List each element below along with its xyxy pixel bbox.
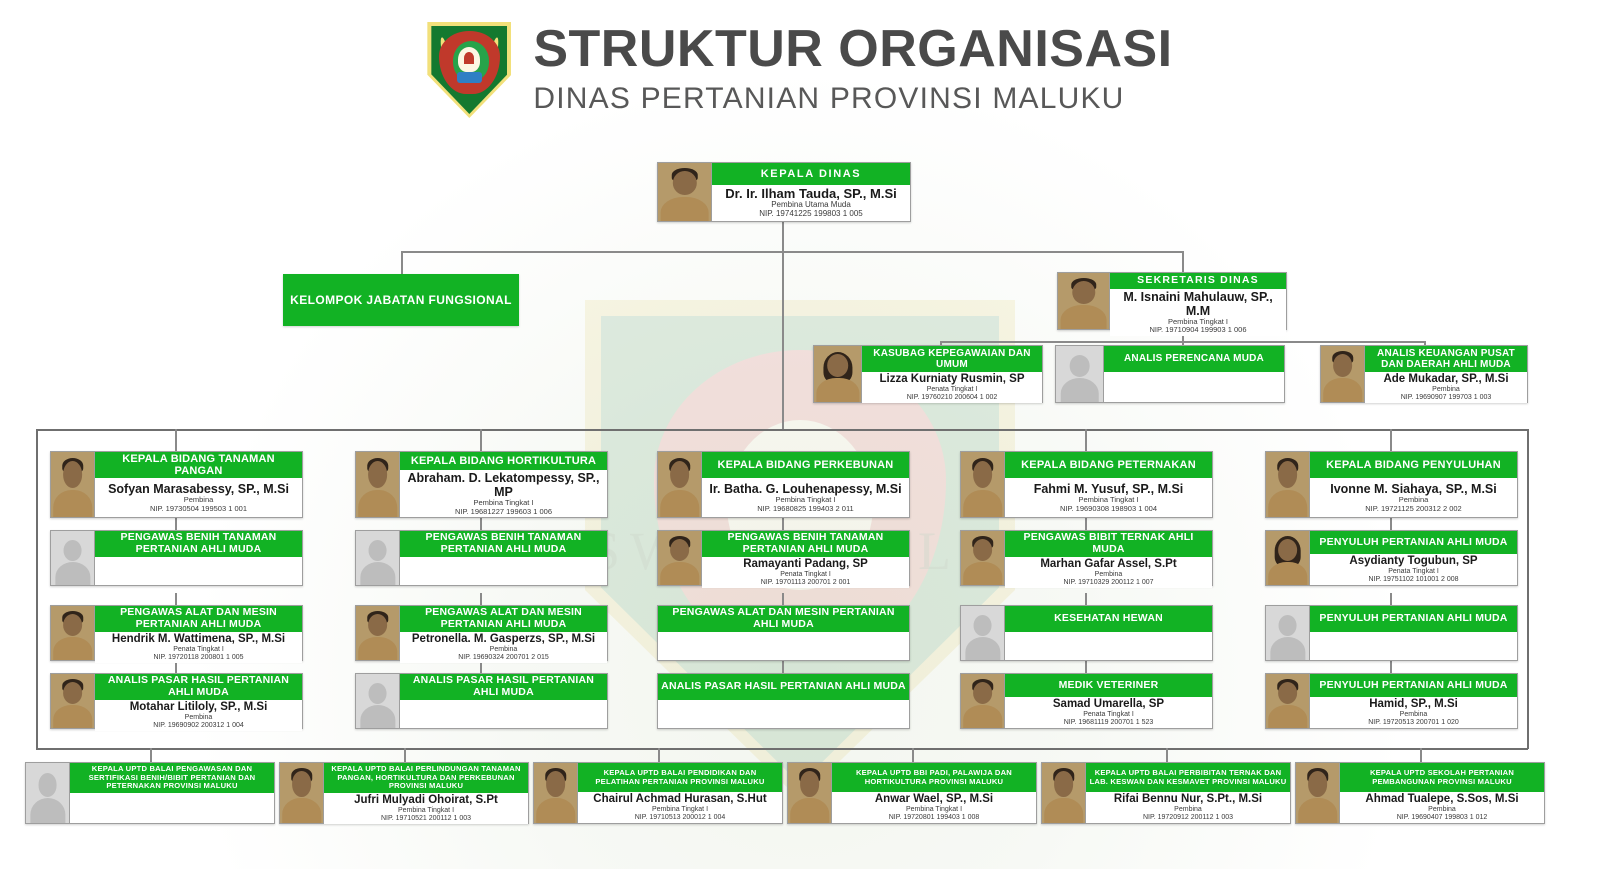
photo-analis-keuangan — [1321, 346, 1365, 402]
node-analis-perencana-muda[interactable]: ANALIS PERENCANA MUDA — [1055, 345, 1285, 403]
header-titles: STRUKTUR ORGANISASI DINAS PERTANIAN PROV… — [533, 23, 1172, 116]
connector — [782, 518, 784, 530]
node-uptd-5[interactable]: KEPALA UPTD BALAI PERBIBITAN TERNAK DAN … — [1041, 762, 1291, 824]
node-title: KEPALA BIDANG TANAMAN PANGAN — [95, 452, 302, 478]
photo-female — [658, 452, 702, 517]
node-nip: NIP. 19720513 200701 1 020 — [1368, 719, 1459, 727]
node-title: PENGAWAS BENIH TANAMAN PERTANIAN AHLI MU… — [400, 531, 607, 557]
node-rank: Penata Tingkat I — [927, 386, 978, 394]
node-nip: NIP. 19681119 200701 1 523 — [1064, 719, 1154, 727]
photo-male — [961, 674, 1005, 728]
node-title: PENGAWAS ALAT DAN MESIN PERTANIAN AHLI M… — [400, 606, 607, 632]
node-rank: Pembina — [1400, 711, 1428, 719]
connector — [658, 748, 660, 762]
connector — [1085, 661, 1087, 673]
node-name: Hamid, SP., M.Si — [1369, 698, 1458, 711]
node-name: Ahmad Tualepe, S.Sos, M.Si — [1365, 793, 1518, 806]
connector — [480, 593, 482, 605]
node-name: Ir. Batha. G. Louhenapessy, M.Si — [709, 482, 901, 496]
connector — [782, 661, 784, 673]
node-title: ANALIS PASAR HASIL PERTANIAN AHLI MUDA — [400, 674, 607, 700]
node-rank: Pembina — [1174, 806, 1202, 814]
connector — [1085, 429, 1087, 451]
node-rank: Pembina — [1095, 571, 1123, 579]
connector — [401, 251, 1183, 253]
node-perkebunan-row-1[interactable]: PENGAWAS BENIH TANAMAN PERTANIAN AHLI MU… — [657, 530, 910, 586]
node-nip: NIP. 19681227 199603 1 006 — [455, 508, 552, 516]
node-nip: NIP. 19701113 200701 2 001 — [761, 579, 851, 587]
connector — [404, 748, 406, 762]
connector — [1390, 661, 1392, 673]
node-title: KASUBAG KEPEGAWAIAN DAN UMUM — [862, 346, 1042, 372]
photo-placeholder — [356, 531, 400, 585]
node-rank: Penata Tingkat I — [173, 646, 224, 654]
node-title: KEPALA UPTD BALAI PENDIDIKAN DAN PELATIH… — [578, 763, 782, 792]
crest-icon — [427, 22, 511, 118]
node-rank: Pembina — [185, 714, 213, 722]
connector — [1390, 429, 1392, 451]
node-tanaman-pangan-row-3[interactable]: ANALIS PASAR HASIL PERTANIAN AHLI MUDAMo… — [50, 673, 303, 729]
node-bidang-head-hortikultura[interactable]: KEPALA BIDANG HORTIKULTURAAbraham. D. Le… — [355, 451, 608, 518]
node-title: PENGAWAS BENIH TANAMAN PERTANIAN AHLI MU… — [95, 531, 302, 557]
node-title: KEPALA UPTD BALAI PERBIBITAN TERNAK DAN … — [1086, 763, 1290, 792]
node-rank: Pembina — [1432, 386, 1460, 394]
photo-male — [51, 452, 95, 517]
node-title: PENGAWAS ALAT DAN MESIN PERTANIAN AHLI M… — [95, 606, 302, 632]
node-uptd-1[interactable]: KEPALA UPTD BALAI PENGAWASAN DAN SERTIFI… — [25, 762, 275, 824]
node-title: PENYULUH PERTANIAN AHLI MUDA — [1310, 531, 1517, 554]
photo-male — [788, 763, 832, 823]
node-nip: NIP. 19720118 200801 1 005 — [153, 654, 243, 662]
connector — [1527, 429, 1529, 749]
connector — [175, 593, 177, 605]
node-name: Chairul Achmad Hurasan, S.Hut — [593, 793, 766, 806]
node-perkebunan-row-3[interactable]: ANALIS PASAR HASIL PERTANIAN AHLI MUDA — [657, 673, 910, 729]
connector — [1420, 748, 1422, 762]
node-kasubag-kepegawaian[interactable]: KASUBAG KEPEGAWAIAN DAN UMUM Lizza Kurni… — [813, 345, 1043, 403]
node-nip: NIP. 19690902 200312 1 004 — [153, 722, 244, 730]
node-name: Rifai Bennu Nur, S.Pt., M.Si — [1114, 793, 1262, 806]
page-header: STRUKTUR ORGANISASI DINAS PERTANIAN PROV… — [0, 22, 1600, 118]
node-name: Asydianty Togubun, SP — [1349, 555, 1477, 568]
node-nip: NIP. 19751102 101001 2 008 — [1368, 576, 1458, 584]
node-name: Anwar Wael, SP., M.Si — [875, 793, 993, 806]
connector — [175, 518, 177, 530]
photo-placeholder — [356, 674, 400, 728]
node-nip: NIP. 19690324 200701 2 015 — [458, 654, 549, 662]
connector — [150, 748, 152, 762]
connector — [480, 518, 482, 530]
org-chart-page: SWAKELOLA STRUKTUR ORGANISASI DINAS PERT… — [0, 0, 1600, 869]
node-uptd-4[interactable]: KEPALA UPTD BBI PADI, PALAWIJA DAN HORTI… — [787, 762, 1037, 824]
node-title: KEPALA DINAS — [712, 163, 910, 185]
node-bidang-head-perkebunan[interactable]: KEPALA BIDANG PERKEBUNANIr. Batha. G. Lo… — [657, 451, 910, 518]
node-rank: Penata Tingkat I — [1083, 711, 1134, 719]
node-bidang-head-tanaman-pangan[interactable]: KEPALA BIDANG TANAMAN PANGANSofyan Maras… — [50, 451, 303, 518]
node-name: Ivonne M. Siahaya, SP., M.Si — [1330, 482, 1497, 496]
node-rank: Pembina — [1428, 806, 1456, 814]
node-title: KELOMPOK JABATAN FUNGSIONAL — [290, 293, 512, 307]
node-tanaman-pangan-row-1[interactable]: PENGAWAS BENIH TANAMAN PERTANIAN AHLI MU… — [50, 530, 303, 586]
node-nip: NIP. 19690308 198903 1 004 — [1060, 505, 1157, 513]
connector — [912, 748, 914, 762]
node-nip: NIP. 19710329 200112 1 007 — [1063, 579, 1153, 587]
node-title: KEPALA BIDANG PENYULUHAN — [1310, 452, 1517, 478]
node-name: Fahmi M. Yusuf, SP., M.Si — [1034, 482, 1184, 496]
node-name: Abraham. D. Lekatompessy, SP., MP — [402, 471, 605, 499]
page-subtitle: DINAS PERTANIAN PROVINSI MALUKU — [533, 81, 1172, 117]
node-title: KEPALA UPTD SEKOLAH PERTANIAN PEMBANGUNA… — [1340, 763, 1544, 792]
node-penyuluhan-row-1[interactable]: PENYULUH PERTANIAN AHLI MUDAAsydianty To… — [1265, 530, 1518, 586]
node-title: ANALIS PASAR HASIL PERTANIAN AHLI MUDA — [95, 674, 302, 700]
connector — [480, 661, 482, 673]
node-analis-keuangan[interactable]: ANALIS KEUANGAN PUSAT DAN DAERAH AHLI MU… — [1320, 345, 1528, 403]
node-name: Hendrik M. Wattimena, SP., M.Si — [112, 633, 285, 646]
node-peternakan-row-3[interactable]: MEDIK VETERINERSamad Umarella, SPPenata … — [960, 673, 1213, 729]
node-uptd-6[interactable]: KEPALA UPTD SEKOLAH PERTANIAN PEMBANGUNA… — [1295, 762, 1545, 824]
connector — [1085, 593, 1087, 605]
photo-female — [658, 531, 702, 585]
connector — [401, 251, 403, 275]
node-title: KEPALA UPTD BBI PADI, PALAWIJA DAN HORTI… — [832, 763, 1036, 792]
node-title: KEPALA UPTD BALAI PERLINDUNGAN TANAMAN P… — [324, 763, 528, 793]
node-nip: NIP. 19710513 200012 1 004 — [635, 814, 726, 822]
node-nip: NIP. 19721125 200312 2 002 — [1365, 505, 1461, 513]
node-nip: NIP. 19760210 200604 1 002 — [907, 394, 998, 402]
photo-male — [961, 531, 1005, 585]
photo-sekretaris-dinas — [1058, 273, 1110, 329]
photo-female-hijab — [1266, 531, 1310, 585]
node-nip: NIP. 19741225 199803 1 005 — [759, 210, 863, 219]
node-title: PENGAWAS ALAT DAN MESIN PERTANIAN AHLI M… — [658, 606, 909, 632]
node-nip: NIP. 19680825 199403 2 011 — [757, 505, 853, 513]
node-nip: NIP. 19720801 199403 1 008 — [889, 814, 980, 822]
connector — [175, 429, 177, 451]
node-rank: Penata Tingkat I — [1388, 568, 1439, 576]
node-kelompok-jabatan-fungsional[interactable]: KELOMPOK JABATAN FUNGSIONAL — [283, 274, 519, 326]
connector — [1085, 518, 1087, 530]
photo-placeholder — [1266, 606, 1310, 660]
photo-female — [356, 606, 400, 660]
connector — [1390, 518, 1392, 530]
node-name: Jufri Mulyadi Ohoirat, S.Pt — [354, 794, 498, 807]
node-nip: NIP. 19720912 200112 1 003 — [1143, 814, 1233, 822]
node-name: Lizza Kurniaty Rusmin, SP — [879, 373, 1024, 386]
photo-female — [1266, 452, 1310, 517]
node-rank: Penata Tingkat I — [780, 571, 831, 579]
node-penyuluhan-row-3[interactable]: PENYULUH PERTANIAN AHLI MUDAHamid, SP., … — [1265, 673, 1518, 729]
node-nip: NIP. 19690907 199703 1 003 — [1401, 394, 1492, 402]
node-nip: NIP. 19710521 200112 1 003 — [381, 815, 471, 823]
node-uptd-3[interactable]: KEPALA UPTD BALAI PENDIDIKAN DAN PELATIH… — [533, 762, 783, 824]
node-rank: Pembina Tingkat I — [398, 807, 454, 815]
photo-placeholder — [51, 531, 95, 585]
node-name: Ramayanti Padang, SP — [743, 558, 868, 571]
photo-male — [51, 674, 95, 728]
node-tanaman-pangan-row-2[interactable]: PENGAWAS ALAT DAN MESIN PERTANIAN AHLI M… — [50, 605, 303, 661]
node-rank: Pembina Tingkat I — [906, 806, 962, 814]
photo-male — [534, 763, 578, 823]
photo-male — [280, 763, 324, 823]
node-title: ANALIS KEUANGAN PUSAT DAN DAERAH AHLI MU… — [1365, 346, 1527, 372]
photo-male — [1042, 763, 1086, 823]
node-peternakan-row-2[interactable]: KESEHATAN HEWAN — [960, 605, 1213, 661]
node-penyuluhan-row-2[interactable]: PENYULUH PERTANIAN AHLI MUDA — [1265, 605, 1518, 661]
node-name: Dr. Ir. Ilham Tauda, SP., M.Si — [725, 187, 896, 202]
node-title: PENYULUH PERTANIAN AHLI MUDA — [1310, 606, 1517, 632]
node-title: KESEHATAN HEWAN — [1005, 606, 1212, 632]
node-title: MEDIK VETERINER — [1005, 674, 1212, 697]
node-name: Marhan Gafar Assel, S.Pt — [1040, 558, 1176, 571]
connector — [1166, 748, 1168, 762]
node-perkebunan-row-2[interactable]: PENGAWAS ALAT DAN MESIN PERTANIAN AHLI M… — [657, 605, 910, 661]
photo-male — [1266, 674, 1310, 728]
photo-kepala-dinas — [658, 163, 712, 221]
node-name: Sofyan Marasabessy, SP., M.Si — [108, 482, 289, 496]
connector — [782, 593, 784, 605]
node-nip: NIP. 19710904 199903 1 006 — [1149, 326, 1246, 334]
connector — [36, 429, 38, 749]
node-nip: NIP. 19730504 199503 1 001 — [150, 505, 247, 513]
node-title: KEPALA BIDANG PERKEBUNAN — [702, 452, 909, 478]
node-bidang-head-peternakan[interactable]: KEPALA BIDANG PETERNAKANFahmi M. Yusuf, … — [960, 451, 1213, 518]
node-name: M. Isnaini Mahulauw, SP., M.M — [1112, 290, 1284, 318]
photo-male — [961, 452, 1005, 517]
node-hortikultura-row-3[interactable]: ANALIS PASAR HASIL PERTANIAN AHLI MUDA — [355, 673, 608, 729]
connector — [480, 429, 482, 451]
photo-male — [51, 606, 95, 660]
node-title: KEPALA UPTD BALAI PENGAWASAN DAN SERTIFI… — [70, 763, 274, 793]
connector — [1390, 593, 1392, 605]
photo-placeholder — [961, 606, 1005, 660]
photo-placeholder — [1056, 346, 1104, 402]
photo-placeholder — [26, 763, 70, 823]
connector — [36, 429, 1528, 431]
node-title: PENYULUH PERTANIAN AHLI MUDA — [1310, 674, 1517, 697]
node-title: KEPALA BIDANG HORTIKULTURA — [400, 452, 607, 470]
node-hortikultura-row-2[interactable]: PENGAWAS ALAT DAN MESIN PERTANIAN AHLI M… — [355, 605, 608, 661]
node-name: Petronella. M. Gasperzs, SP., M.Si — [412, 633, 595, 646]
node-name: Samad Umarella, SP — [1053, 698, 1164, 711]
node-peternakan-row-1[interactable]: PENGAWAS BIBIT TERNAK AHLI MUDAMarhan Ga… — [960, 530, 1213, 586]
node-uptd-2[interactable]: KEPALA UPTD BALAI PERLINDUNGAN TANAMAN P… — [279, 762, 529, 824]
node-title: ANALIS PERENCANA MUDA — [1104, 346, 1284, 372]
node-bidang-head-penyuluhan[interactable]: KEPALA BIDANG PENYULUHANIvonne M. Siahay… — [1265, 451, 1518, 518]
photo-male — [1296, 763, 1340, 823]
node-sekretaris-dinas[interactable]: SEKRETARIS DINAS M. Isnaini Mahulauw, SP… — [1057, 272, 1287, 330]
node-title: ANALIS PASAR HASIL PERTANIAN AHLI MUDA — [658, 674, 909, 700]
photo-kasubag — [814, 346, 862, 402]
connector — [782, 251, 784, 429]
node-kepala-dinas[interactable]: KEPALA DINAS Dr. Ir. Ilham Tauda, SP., M… — [657, 162, 911, 222]
connector — [175, 661, 177, 673]
node-title: KEPALA BIDANG PETERNAKAN — [1005, 452, 1212, 478]
node-title: PENGAWAS BENIH TANAMAN PERTANIAN AHLI MU… — [702, 531, 909, 557]
connector — [36, 748, 1528, 750]
photo-male — [356, 452, 400, 517]
node-name: Ade Mukadar, SP., M.Si — [1383, 373, 1508, 386]
node-name: Motahar Litiloly, SP., M.Si — [130, 701, 268, 714]
node-hortikultura-row-1[interactable]: PENGAWAS BENIH TANAMAN PERTANIAN AHLI MU… — [355, 530, 608, 586]
node-title: SEKRETARIS DINAS — [1110, 273, 1286, 289]
node-title: PENGAWAS BIBIT TERNAK AHLI MUDA — [1005, 531, 1212, 557]
connector — [782, 222, 784, 252]
node-rank: Pembina — [490, 646, 518, 654]
node-nip: NIP. 19690407 199803 1 012 — [1397, 814, 1488, 822]
page-title: STRUKTUR ORGANISASI — [533, 23, 1172, 76]
node-rank: Pembina Tingkat I — [652, 806, 708, 814]
